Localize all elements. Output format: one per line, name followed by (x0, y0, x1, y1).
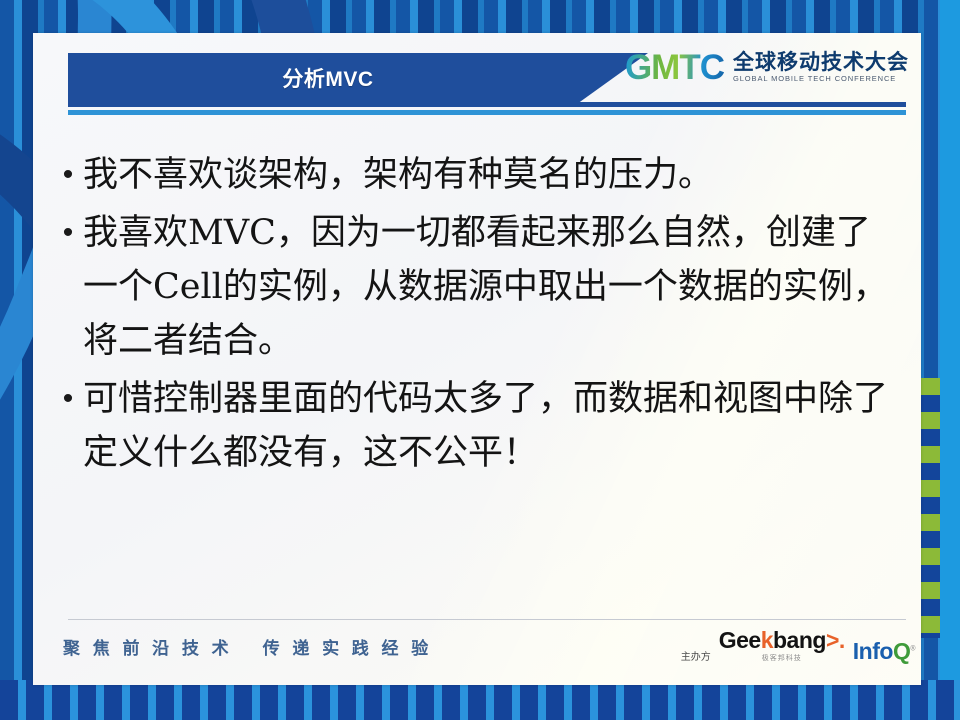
gmtc-english-name: GLOBAL MOBILE TECH CONFERENCE (733, 75, 909, 83)
infoq-info: Info (853, 638, 893, 664)
geekbang-part2: bang (773, 627, 826, 653)
list-item: • 我不喜欢谈架构，架构有种莫名的压力。 (53, 148, 903, 202)
footer-divider (68, 619, 906, 620)
page-title: 分析MVC (282, 63, 373, 93)
slide-title-bar: 分析MVC (68, 53, 648, 103)
organizer-label-wrap: 主办方 (681, 648, 711, 663)
presentation-slide: 分析MVC GMTC 全球移动技术大会 GLOBAL MOBILE TECH C… (0, 0, 960, 720)
bullet-list: • 我不喜欢谈架构，架构有种莫名的压力。 • 我喜欢MVC，因为一切都看起来那么… (53, 148, 903, 484)
footer-slogan-left: 聚 焦 前 沿 技 术 (63, 634, 233, 659)
list-item: • 可惜控制器里面的代码太多了，而数据和视图中除了定义什么都没有，这不公平！ (53, 372, 903, 480)
infoq-q: Q (893, 638, 910, 664)
geekbang-logo: Geekbang>. 极客邦科技 (719, 629, 845, 663)
gmtc-logo-text: 全球移动技术大会 GLOBAL MOBILE TECH CONFERENCE (733, 52, 909, 83)
bullet-text: 我喜欢MVC，因为一切都看起来那么自然，创建了一个Cell的实例，从数据源中取出… (83, 206, 893, 368)
bullet-icon: • (53, 206, 83, 260)
background-right-strip (940, 0, 960, 720)
geekbang-arrow: >. (826, 627, 845, 653)
geekbang-subtitle: 极客邦科技 (762, 653, 802, 663)
infoq-logo: InfoQ® (853, 640, 915, 663)
footer-sponsor-logos: 主办方 Geekbang>. 极客邦科技 InfoQ® (681, 629, 915, 663)
geekbang-k: k (761, 627, 773, 653)
gmtc-chinese-name: 全球移动技术大会 (733, 52, 909, 73)
footer-slogan: 聚 焦 前 沿 技 术 传 递 实 践 经 验 (63, 634, 432, 659)
organizer-label: 主办方 (681, 648, 711, 663)
bullet-text: 我不喜欢谈架构，架构有种莫名的压力。 (83, 148, 713, 202)
gmtc-logo: GMTC 全球移动技术大会 GLOBAL MOBILE TECH CONFERE… (625, 50, 909, 85)
geekbang-part1: Gee (719, 627, 761, 653)
bullet-icon: • (53, 372, 83, 426)
header-rule-dark (68, 102, 906, 107)
bullet-text: 可惜控制器里面的代码太多了，而数据和视图中除了定义什么都没有，这不公平！ (83, 372, 893, 480)
background-bottom-stripes (0, 680, 960, 720)
geekbang-wordmark: Geekbang>. (719, 629, 845, 652)
gmtc-wordmark: GMTC (625, 50, 724, 85)
list-item: • 我喜欢MVC，因为一切都看起来那么自然，创建了一个Cell的实例，从数据源中… (53, 206, 903, 368)
header-rule-light (68, 110, 906, 115)
infoq-trademark: ® (910, 645, 915, 652)
footer-slogan-right: 传 递 实 践 经 验 (263, 634, 433, 659)
bullet-icon: • (53, 148, 83, 202)
slide-panel: 分析MVC GMTC 全球移动技术大会 GLOBAL MOBILE TECH C… (33, 33, 921, 685)
